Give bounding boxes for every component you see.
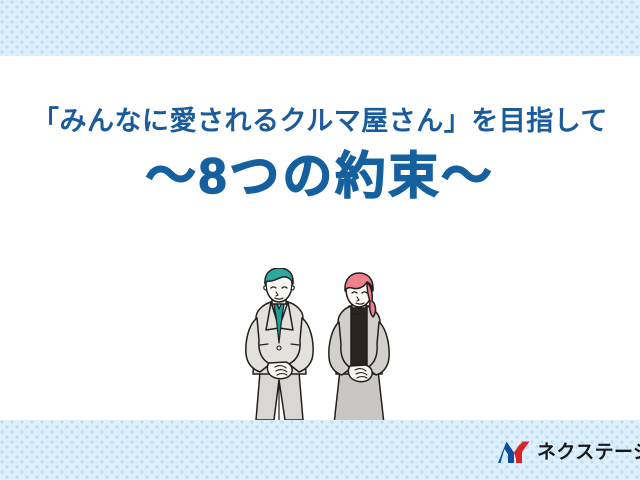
promo-banner: 「みんなに愛されるクルマ屋さん」を目指して ～8つの約束～ bbox=[0, 0, 640, 480]
nextage-logo: ネクステージ bbox=[498, 436, 640, 468]
top-dotted-band bbox=[0, 0, 640, 56]
headline-title: ～8つの約束～ bbox=[0, 151, 640, 201]
male-staff-figure bbox=[246, 268, 313, 420]
female-staff-figure bbox=[329, 273, 389, 424]
nextage-wordmark: ネクステージ bbox=[537, 443, 640, 462]
nextage-n-mark-icon bbox=[498, 440, 530, 465]
headline-block: 「みんなに愛されるクルマ屋さん」を目指して ～8つの約束～ bbox=[0, 108, 640, 201]
two-staff-bowing-illustration bbox=[238, 268, 418, 424]
headline-subtitle: 「みんなに愛されるクルマ屋さん」を目指して bbox=[0, 108, 640, 135]
